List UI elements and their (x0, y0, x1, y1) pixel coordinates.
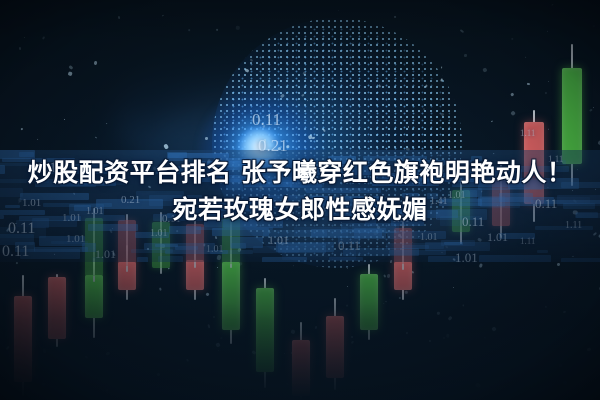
headline-line-2: 宛若玫瑰女郎性感妩媚 (0, 195, 600, 226)
headline-block: 炒股配资平台排名 张予曦穿红色旗袍明艳动人！ 宛若玫瑰女郎性感妩媚 (0, 158, 600, 225)
banner-image: 0.110.110.211.111.111.011.010.211.010.11… (0, 0, 600, 400)
headline-line-1: 炒股配资平台排名 张予曦穿红色旗袍明艳动人！ (0, 158, 600, 189)
